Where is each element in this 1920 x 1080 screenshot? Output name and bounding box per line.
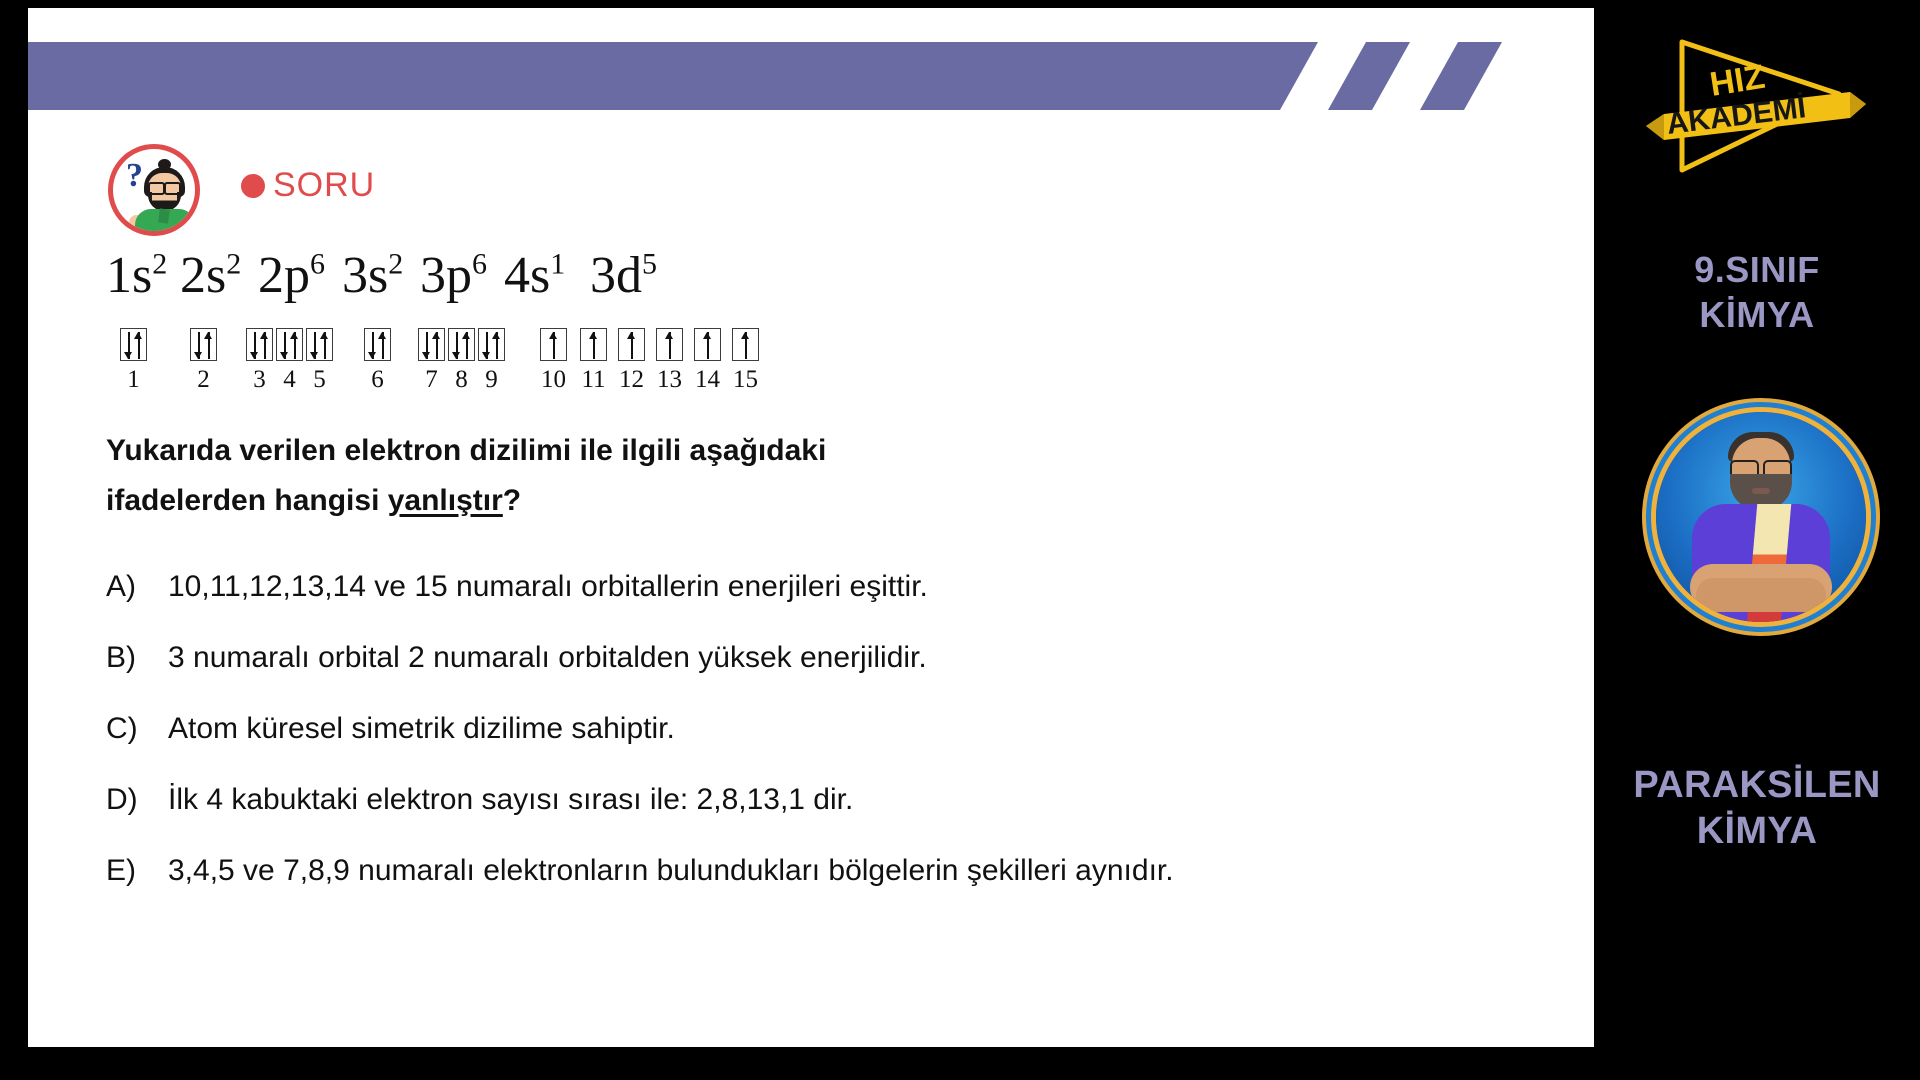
spin-down-arrow-icon <box>284 332 286 359</box>
orbital-box <box>580 328 607 361</box>
orbital-box <box>478 328 505 361</box>
spin-up-arrow-icon <box>669 332 671 359</box>
spin-up-arrow-icon <box>264 332 266 359</box>
spin-up-arrow-icon <box>294 332 296 359</box>
question-text: Yukarıda verilen elektron dizilimi ile i… <box>106 426 1106 525</box>
orbital-label: 3d5 <box>590 250 657 302</box>
brand-label-line-1: PARAKSİLEN <box>1594 762 1920 808</box>
orbital-box <box>618 328 645 361</box>
orbital-superscript: 2 <box>388 248 403 281</box>
avatar-icon: ? <box>108 144 200 236</box>
orbital-number: 6 <box>355 366 400 394</box>
orbital-shell: 3s <box>342 247 388 304</box>
option-text: 10,11,12,13,14 ve 15 numaralı orbitaller… <box>168 564 1206 609</box>
orbital-shell: 1s <box>106 247 152 304</box>
spin-up-arrow-icon <box>553 332 555 359</box>
orbital-shell: 4s <box>504 247 550 304</box>
option-letter: B) <box>106 635 168 680</box>
orbital-number: 10 <box>531 366 576 394</box>
spin-up-arrow-icon <box>138 332 140 359</box>
orbital-superscript: 6 <box>310 248 325 281</box>
spin-up-arrow-icon <box>382 332 384 359</box>
class-label-line-2: KİMYA <box>1594 293 1920 338</box>
orbital-box <box>418 328 445 361</box>
orbital-superscript: 5 <box>642 248 657 281</box>
spin-down-arrow-icon <box>128 332 130 359</box>
orbital-box <box>120 328 147 361</box>
spin-up-arrow-icon <box>496 332 498 359</box>
option-row[interactable]: A)10,11,12,13,14 ve 15 numaralı orbitall… <box>106 564 1206 609</box>
spin-down-arrow-icon <box>456 332 458 359</box>
orbital-number: 5 <box>297 366 342 394</box>
option-text: Atom küresel simetrik dizilime sahiptir. <box>168 706 1206 751</box>
option-row[interactable]: C)Atom küresel simetrik dizilime sahipti… <box>106 706 1206 751</box>
option-text: 3 numaralı orbital 2 numaralı orbitalden… <box>168 635 1206 680</box>
question-line-2-pre: ifadelerden hangisi <box>106 484 388 517</box>
option-row[interactable]: D)İlk 4 kabuktaki elektron sayısı sırası… <box>106 777 1206 822</box>
orbital-box <box>694 328 721 361</box>
spin-up-arrow-icon <box>593 332 595 359</box>
option-letter: D) <box>106 777 168 822</box>
orbital-number: 2 <box>181 366 226 394</box>
orbital-box <box>246 328 273 361</box>
orbital-label: 4s1 <box>504 250 565 302</box>
spin-up-arrow-icon <box>745 332 747 359</box>
spin-down-arrow-icon <box>198 332 200 359</box>
orbital-shell: 3d <box>590 247 642 304</box>
option-letter: A) <box>106 564 168 609</box>
banner-stripe-2 <box>1420 42 1502 110</box>
orbital-shell: 3p <box>420 247 472 304</box>
spin-down-arrow-icon <box>372 332 374 359</box>
soru-label: SORU <box>273 166 375 205</box>
slide-card: ? SORU 1s22s22p63s23p64s13d5 12345678910… <box>28 8 1594 1047</box>
orbital-label: 1s2 <box>106 250 167 302</box>
orbital-box <box>364 328 391 361</box>
spin-up-arrow-icon <box>208 332 210 359</box>
red-dot-icon <box>241 174 265 198</box>
spin-up-arrow-icon <box>631 332 633 359</box>
option-row[interactable]: B)3 numaralı orbital 2 numaralı orbitald… <box>106 635 1206 680</box>
svg-text:AKADEMİ: AKADEMİ <box>1665 91 1808 141</box>
orbital-superscript: 2 <box>152 248 167 281</box>
spin-down-arrow-icon <box>314 332 316 359</box>
orbital-superscript: 2 <box>226 248 241 281</box>
brand-label: PARAKSİLEN KİMYA <box>1594 762 1920 855</box>
option-text: İlk 4 kabuktaki elektron sayısı sırası i… <box>168 777 1206 822</box>
soru-badge: ? SORU <box>108 144 408 236</box>
right-sidebar: HIZ AKADEMİ 9.SINIF KİMYA PARAKSİLE <box>1594 0 1920 1080</box>
class-label-line-1: 9.SINIF <box>1594 248 1920 293</box>
banner-stripe-1 <box>1328 42 1410 110</box>
question-emphasis: yanlıştır <box>388 484 503 517</box>
options-list: A)10,11,12,13,14 ve 15 numaralı orbitall… <box>106 564 1206 919</box>
brand-label-line-2: KİMYA <box>1594 808 1920 854</box>
spin-down-arrow-icon <box>426 332 428 359</box>
option-letter: E) <box>106 848 168 893</box>
orbital-superscript: 6 <box>472 248 487 281</box>
orbital-box <box>656 328 683 361</box>
spin-down-arrow-icon <box>486 332 488 359</box>
banner-main-bar <box>28 42 1318 110</box>
slide-stage: ? SORU 1s22s22p63s23p64s13d5 12345678910… <box>0 0 1920 1080</box>
option-text: 3,4,5 ve 7,8,9 numaralı elektronların bu… <box>168 848 1206 893</box>
question-line-2: ifadelerden hangisi yanlıştır? <box>106 476 1106 526</box>
option-row[interactable]: E)3,4,5 ve 7,8,9 numaralı elektronların … <box>106 848 1206 893</box>
orbital-label: 2s2 <box>180 250 241 302</box>
orbital-label: 3p6 <box>420 250 487 302</box>
question-mark-icon: ? <box>126 157 143 195</box>
hiz-akademi-logo-icon: HIZ AKADEMİ <box>1634 18 1884 178</box>
orbital-superscript: 1 <box>550 248 565 281</box>
orbital-box <box>540 328 567 361</box>
class-label: 9.SINIF KİMYA <box>1594 248 1920 337</box>
spin-up-arrow-icon <box>324 332 326 359</box>
spin-down-arrow-icon <box>254 332 256 359</box>
option-letter: C) <box>106 706 168 751</box>
orbital-box <box>732 328 759 361</box>
orbital-shell: 2s <box>180 247 226 304</box>
orbital-box <box>306 328 333 361</box>
orbital-box <box>448 328 475 361</box>
orbital-label: 2p6 <box>258 250 325 302</box>
orbital-box <box>276 328 303 361</box>
orbital-number: 1 <box>111 366 156 394</box>
question-line-1: Yukarıda verilen elektron dizilimi ile i… <box>106 426 1106 476</box>
orbital-number: 9 <box>469 366 514 394</box>
orbital-label: 3s2 <box>342 250 403 302</box>
orbital-box <box>190 328 217 361</box>
teacher-avatar-icon <box>1656 412 1866 622</box>
orbital-number: 15 <box>723 366 768 394</box>
orbital-shell: 2p <box>258 247 310 304</box>
header-banner <box>28 42 1488 110</box>
spin-up-arrow-icon <box>436 332 438 359</box>
question-line-2-post: ? <box>503 484 521 517</box>
spin-up-arrow-icon <box>466 332 468 359</box>
spin-up-arrow-icon <box>707 332 709 359</box>
